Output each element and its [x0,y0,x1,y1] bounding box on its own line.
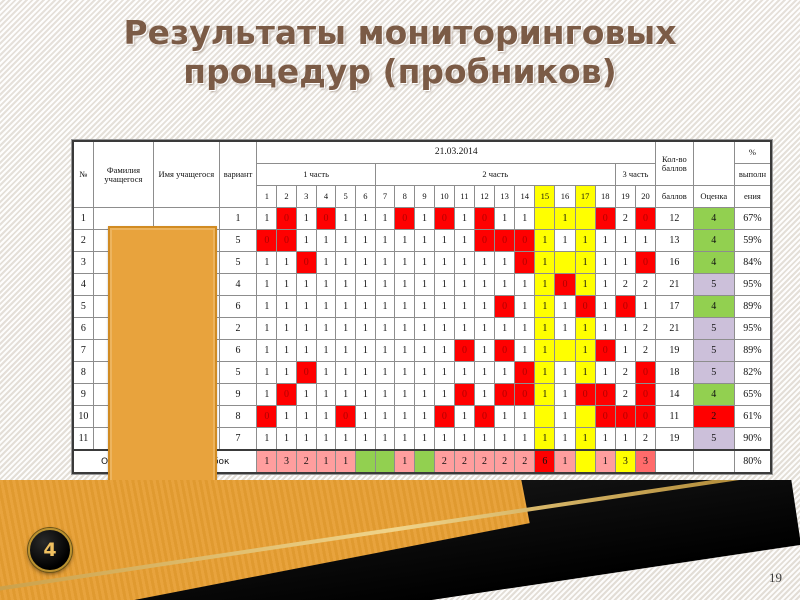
answer-cell-q13: 0 [495,340,515,362]
answer-cell-q5: 1 [336,362,356,384]
row-mark: 4 [693,384,734,406]
row-number: 5 [73,296,93,318]
row-percent: 89% [734,296,771,318]
answer-cell-q10: 1 [434,384,454,406]
slide-badge: 4 [28,528,72,572]
col-header-question-19: 19 [615,186,635,208]
answer-cell-q13: 1 [495,252,515,274]
answer-cell-q2: 0 [277,208,297,230]
band-black-shape [0,480,800,600]
answer-cell-q9: 1 [415,406,435,428]
row-mark: 4 [693,208,734,230]
col-header-question-20: 20 [635,186,655,208]
answer-cell-q12: 1 [474,274,494,296]
row-variant: 2 [219,318,257,340]
answer-cell-q1: 1 [257,274,277,296]
answer-cell-q7: 1 [375,406,395,428]
answer-cell-q17 [575,406,595,428]
answer-cell-q1: 1 [257,318,277,340]
answer-cell-q6: 1 [356,406,376,428]
answer-cell-q15: 1 [535,318,555,340]
answer-cell-q3: 0 [296,252,316,274]
answer-cell-q10: 1 [434,274,454,296]
answer-cell-q10: 1 [434,362,454,384]
col-header-question-2: 2 [277,186,297,208]
col-header-question-17: 17 [575,186,595,208]
answer-cell-q4: 1 [316,252,336,274]
errors-count-q19: 3 [615,450,635,473]
errors-count-q14: 2 [515,450,535,473]
answer-cell-q9: 1 [415,296,435,318]
row-total-score: 21 [656,274,693,296]
row-number: 4 [73,274,93,296]
answer-cell-q8: 1 [395,318,415,340]
errors-count-q11: 2 [454,450,474,473]
row-variant: 5 [219,252,257,274]
band-gold-edge [0,480,800,592]
errors-count-q18: 1 [595,450,615,473]
col-header-part2: 2 часть [375,164,615,186]
answer-cell-q19: 2 [615,384,635,406]
row-percent: 61% [734,406,771,428]
answer-cell-q3: 1 [296,274,316,296]
answer-cell-q7: 1 [375,340,395,362]
row-percent: 65% [734,384,771,406]
row-mark: 5 [693,340,734,362]
answer-cell-q7: 1 [375,428,395,451]
answer-cell-q20: 2 [635,274,655,296]
answer-cell-q15: 1 [535,296,555,318]
col-header-question-9: 9 [415,186,435,208]
answer-cell-q18: 1 [595,318,615,340]
row-total-score: 12 [656,208,693,230]
answer-cell-q19: 0 [615,296,635,318]
answer-cell-q4: 1 [316,428,336,451]
answer-cell-q5: 1 [336,384,356,406]
errors-count-q16: 1 [555,450,575,473]
answer-cell-q12: 1 [474,318,494,340]
answer-cell-q16 [555,340,575,362]
answer-cell-q3: 1 [296,406,316,428]
errors-count-q13: 2 [495,450,515,473]
errors-count-q5: 1 [336,450,356,473]
col-header-total-label: баллов [656,186,693,208]
answer-cell-q20: 0 [635,384,655,406]
answer-cell-q20: 1 [635,296,655,318]
answer-cell-q18: 1 [595,296,615,318]
answer-cell-q18: 1 [595,274,615,296]
row-total-score: 21 [656,318,693,340]
answer-cell-q2: 0 [277,384,297,406]
answer-cell-q20: 0 [635,252,655,274]
row-percent: 59% [734,230,771,252]
page-title-line-2: процедур (пробников) [40,53,760,92]
answer-cell-q8: 1 [395,296,415,318]
answer-cell-q8: 0 [395,208,415,230]
answer-cell-q3: 1 [296,318,316,340]
answer-cell-q14: 1 [515,208,535,230]
row-number: 8 [73,362,93,384]
answer-cell-q16 [555,252,575,274]
row-number: 6 [73,318,93,340]
errors-count-q10: 2 [434,450,454,473]
answer-cell-q6: 1 [356,362,376,384]
answer-cell-q20: 0 [635,406,655,428]
answer-cell-q5: 1 [336,296,356,318]
answer-cell-q1: 1 [257,252,277,274]
row-mark: 5 [693,318,734,340]
answer-cell-q17: 1 [575,252,595,274]
answer-cell-q3: 0 [296,362,316,384]
answer-cell-q4: 1 [316,274,336,296]
answer-cell-q8: 1 [395,362,415,384]
row-mark: 4 [693,230,734,252]
answer-cell-q6: 1 [356,274,376,296]
answer-cell-q14: 1 [515,428,535,451]
answer-cell-q9: 1 [415,274,435,296]
errors-count-q7 [375,450,395,473]
answer-cell-q4: 1 [316,384,336,406]
answer-cell-q15 [535,406,555,428]
row-percent: 82% [734,362,771,384]
col-header-question-11: 11 [454,186,474,208]
row-variant: 6 [219,340,257,362]
answer-cell-q15: 1 [535,252,555,274]
col-header-part1: 1 часть [257,164,375,186]
col-header-question-8: 8 [395,186,415,208]
answer-cell-q1: 1 [257,208,277,230]
col-header-question-1: 1 [257,186,277,208]
answer-cell-q8: 1 [395,252,415,274]
row-mark: 2 [693,406,734,428]
page-number: 19 [769,570,782,586]
answer-cell-q20: 0 [635,208,655,230]
row-total-score: 14 [656,384,693,406]
answer-cell-q7: 1 [375,208,395,230]
answer-cell-q9: 1 [415,318,435,340]
answer-cell-q3: 1 [296,384,316,406]
answer-cell-q13: 1 [495,208,515,230]
answer-cell-q6: 1 [356,384,376,406]
answer-cell-q5: 1 [336,208,356,230]
col-header-question-6: 6 [356,186,376,208]
col-header-date: 21.03.2014 [257,141,656,164]
row-total-score: 16 [656,252,693,274]
answer-cell-q5: 1 [336,428,356,451]
answer-cell-q12: 1 [474,252,494,274]
answer-cell-q3: 1 [296,208,316,230]
row-number: 1 [73,208,93,230]
answer-cell-q11: 1 [454,208,474,230]
answer-cell-q6: 1 [356,318,376,340]
answer-cell-q10: 0 [434,208,454,230]
answer-cell-q16: 1 [555,318,575,340]
answer-cell-q7: 1 [375,252,395,274]
col-header-mark-spacer [693,141,734,186]
answer-cell-q15: 1 [535,340,555,362]
row-mark: 4 [693,252,734,274]
row-mark: 4 [693,296,734,318]
answer-cell-q19: 1 [615,428,635,451]
answer-cell-q2: 1 [277,362,297,384]
errors-count-q20: 3 [635,450,655,473]
answer-cell-q7: 1 [375,318,395,340]
col-header-question-15: 15 [535,186,555,208]
errors-count-q12: 2 [474,450,494,473]
row-percent: 84% [734,252,771,274]
answer-cell-q19: 2 [615,362,635,384]
answer-cell-q5: 1 [336,340,356,362]
answer-cell-q6: 1 [356,208,376,230]
row-variant: 1 [219,208,257,230]
answer-cell-q14: 1 [515,340,535,362]
answer-cell-q2: 1 [277,274,297,296]
answer-cell-q17: 1 [575,274,595,296]
col-header-percent-sign: % [734,141,771,164]
answer-cell-q18: 1 [595,428,615,451]
errors-count-q4: 1 [316,450,336,473]
page-title-line-1: Результаты мониторинговых [40,14,760,53]
answer-cell-q17: 1 [575,428,595,451]
answer-cell-q11: 1 [454,230,474,252]
answer-cell-q19: 1 [615,252,635,274]
answer-cell-q4: 1 [316,296,336,318]
answer-cell-q12: 0 [474,208,494,230]
slide-badge-number: 4 [43,539,56,561]
answer-cell-q7: 1 [375,362,395,384]
answer-cell-q9: 1 [415,428,435,451]
answer-cell-q10: 1 [434,340,454,362]
row-number: 2 [73,230,93,252]
answer-cell-q1: 0 [257,406,277,428]
errors-total-blank [656,450,693,473]
errors-count-q15: 6 [535,450,555,473]
col-header-part3: 3 часть [615,164,655,186]
decorative-band [0,480,800,600]
answer-cell-q4: 1 [316,318,336,340]
answer-cell-q12: 1 [474,296,494,318]
col-header-variant: вариант [219,141,257,208]
answer-cell-q15: 1 [535,274,555,296]
answer-cell-q19: 2 [615,274,635,296]
answer-cell-q13: 1 [495,274,515,296]
answer-cell-q18: 1 [595,252,615,274]
answer-cell-q8: 1 [395,340,415,362]
answer-cell-q15 [535,208,555,230]
answer-cell-q6: 1 [356,340,376,362]
answer-cell-q16: 1 [555,384,575,406]
page-title: Результаты мониторинговых процедур (проб… [40,14,760,92]
col-header-firstname: Имя учащегося [154,141,220,208]
answer-cell-q5: 1 [336,252,356,274]
row-percent: 90% [734,428,771,451]
row-variant: 9 [219,384,257,406]
answer-cell-q12: 1 [474,384,494,406]
col-header-question-12: 12 [474,186,494,208]
answer-cell-q4: 0 [316,208,336,230]
answer-cell-q13: 1 [495,362,515,384]
answer-cell-q14: 1 [515,406,535,428]
errors-count-q1: 1 [257,450,277,473]
answer-cell-q15: 1 [535,428,555,451]
answer-cell-q17: 1 [575,318,595,340]
answer-cell-q10: 1 [434,318,454,340]
answer-cell-q7: 1 [375,274,395,296]
answer-cell-q1: 1 [257,428,277,451]
answer-cell-q2: 1 [277,296,297,318]
answer-cell-q1: 1 [257,296,277,318]
answer-cell-q13: 1 [495,318,515,340]
row-percent: 95% [734,318,771,340]
answer-cell-q9: 1 [415,230,435,252]
answer-cell-q8: 1 [395,406,415,428]
answer-cell-q2: 1 [277,406,297,428]
answer-cell-q5: 1 [336,230,356,252]
row-variant: 4 [219,274,257,296]
col-header-total: Кол-во баллов [656,141,693,186]
col-header-question-3: 3 [296,186,316,208]
answer-cell-q3: 1 [296,428,316,451]
answer-cell-q10: 0 [434,406,454,428]
row-variant: 5 [219,362,257,384]
answer-cell-q11: 1 [454,406,474,428]
answer-cell-q3: 1 [296,296,316,318]
row-percent: 89% [734,340,771,362]
col-header-question-13: 13 [495,186,515,208]
row-total-score: 19 [656,340,693,362]
answer-cell-q6: 1 [356,252,376,274]
col-header-question-5: 5 [336,186,356,208]
answer-cell-q15: 1 [535,362,555,384]
row-number: 10 [73,406,93,428]
answer-cell-q20: 1 [635,230,655,252]
answer-cell-q1: 1 [257,362,277,384]
col-header-question-10: 10 [434,186,454,208]
answer-cell-q2: 0 [277,230,297,252]
answer-cell-q2: 1 [277,252,297,274]
answer-cell-q18: 0 [595,208,615,230]
answer-cell-q3: 1 [296,230,316,252]
col-header-surname: Фамилия учащегося [93,141,153,208]
answer-cell-q19: 1 [615,318,635,340]
answer-cell-q18: 0 [595,406,615,428]
errors-count-q17 [575,450,595,473]
answer-cell-q18: 0 [595,340,615,362]
answer-cell-q7: 1 [375,296,395,318]
answer-cell-q8: 1 [395,274,415,296]
answer-cell-q16: 1 [555,296,575,318]
answer-cell-q10: 1 [434,230,454,252]
answer-cell-q14: 0 [515,384,535,406]
answer-cell-q11: 1 [454,252,474,274]
row-variant: 7 [219,428,257,451]
answer-cell-q16: 0 [555,274,575,296]
col-header-question-16: 16 [555,186,575,208]
answer-cell-q11: 1 [454,428,474,451]
answer-cell-q13: 0 [495,384,515,406]
answer-cell-q13: 1 [495,406,515,428]
errors-count-q3: 2 [296,450,316,473]
answer-cell-q9: 1 [415,208,435,230]
answer-cell-q2: 1 [277,318,297,340]
answer-cell-q14: 1 [515,296,535,318]
answer-cell-q16: 1 [555,428,575,451]
row-mark: 5 [693,274,734,296]
answer-cell-q15: 1 [535,384,555,406]
errors-count-q9 [415,450,435,473]
answer-cell-q12: 0 [474,406,494,428]
answer-cell-q6: 1 [356,230,376,252]
answer-cell-q4: 1 [316,340,336,362]
answer-cell-q9: 1 [415,384,435,406]
answer-cell-q12: 1 [474,428,494,451]
answer-cell-q11: 1 [454,296,474,318]
row-mark: 5 [693,428,734,451]
answer-cell-q20: 2 [635,340,655,362]
row-number: 9 [73,384,93,406]
answer-cell-q8: 1 [395,384,415,406]
answer-cell-q5: 1 [336,274,356,296]
answer-cell-q16: 1 [555,208,575,230]
row-number: 11 [73,428,93,451]
answer-cell-q16: 1 [555,406,575,428]
answer-cell-q17: 1 [575,230,595,252]
row-mark: 5 [693,362,734,384]
table-header: № Фамилия учащегося Имя учащегося вариан… [73,141,771,208]
answer-cell-q11: 0 [454,340,474,362]
answer-cell-q8: 1 [395,428,415,451]
header-row-date: № Фамилия учащегося Имя учащегося вариан… [73,141,771,164]
answer-cell-q20: 2 [635,318,655,340]
row-percent: 67% [734,208,771,230]
answer-cell-q11: 1 [454,318,474,340]
answer-cell-q4: 1 [316,230,336,252]
answer-cell-q13: 0 [495,230,515,252]
answer-cell-q6: 1 [356,428,376,451]
answer-cell-q11: 1 [454,274,474,296]
answer-cell-q17: 0 [575,384,595,406]
slide-canvas: Результаты мониторинговых процедур (проб… [0,0,800,600]
answer-cell-q17: 0 [575,296,595,318]
errors-mark-blank [693,450,734,473]
answer-cell-q14: 1 [515,318,535,340]
answer-cell-q14: 0 [515,362,535,384]
answer-cell-q1: 1 [257,340,277,362]
answer-cell-q10: 1 [434,428,454,451]
answer-cell-q18: 1 [595,362,615,384]
col-header-question-4: 4 [316,186,336,208]
names-redaction-box [108,226,217,485]
answer-cell-q4: 1 [316,406,336,428]
answer-cell-q19: 0 [615,406,635,428]
row-variant: 8 [219,406,257,428]
answer-cell-q17: 1 [575,340,595,362]
answer-cell-q10: 1 [434,252,454,274]
row-number: 7 [73,340,93,362]
answer-cell-q3: 1 [296,340,316,362]
answer-cell-q17: 1 [575,362,595,384]
col-header-question-7: 7 [375,186,395,208]
answer-cell-q18: 1 [595,230,615,252]
answer-cell-q16: 1 [555,230,575,252]
answer-cell-q20: 0 [635,362,655,384]
col-header-percent-line-3: ения [734,186,771,208]
answer-cell-q12: 0 [474,230,494,252]
row-total-score: 13 [656,230,693,252]
answer-cell-q7: 1 [375,384,395,406]
answer-cell-q14: 0 [515,230,535,252]
answer-cell-q1: 1 [257,384,277,406]
